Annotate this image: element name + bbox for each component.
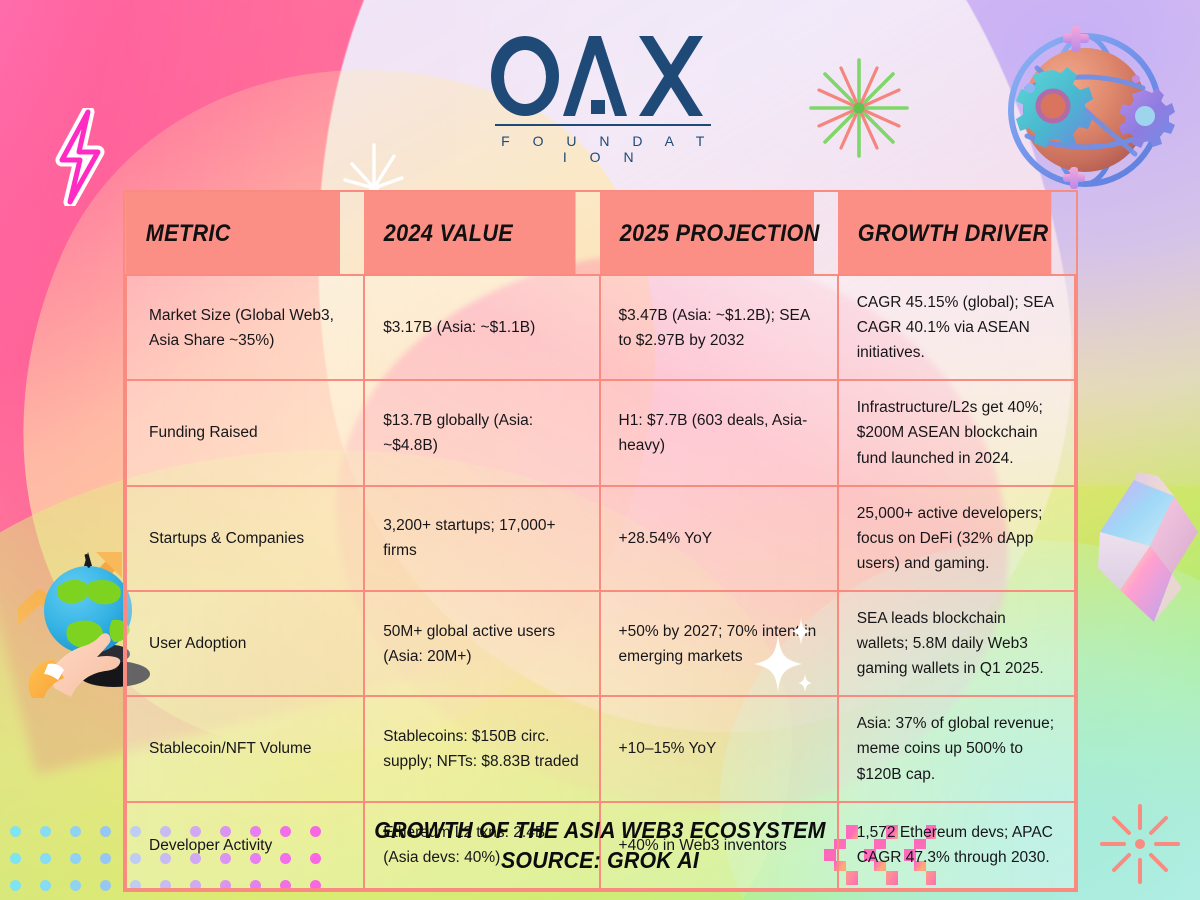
cell-2024-value: 3,200+ startups; 17,000+ firms	[364, 486, 599, 591]
cell-text: Stablecoin/NFT Volume	[149, 740, 312, 757]
table-row: Funding Raised $13.7B globally (Asia: ~$…	[126, 380, 1075, 485]
cell-text: Market Size (Global Web3, Asia Share ~35…	[149, 307, 334, 349]
column-header-metric: METRIC	[126, 192, 340, 275]
four-point-sparkle-icon	[748, 616, 816, 696]
table-row: Market Size (Global Web3, Asia Share ~35…	[126, 275, 1075, 380]
cell-2025-projection: +28.54% YoY	[600, 486, 838, 591]
footer: GROWTH OF THE ASIA WEB3 ECOSYSTEM SOURCE…	[0, 816, 1200, 876]
cell-growth-driver: Asia: 37% of global revenue; meme coins …	[838, 696, 1075, 801]
oax-logo-mark	[489, 34, 717, 118]
column-header-2024-value: 2024 VALUE	[364, 192, 576, 275]
cell-2024-value: 50M+ global active users (Asia: 20M+)	[364, 591, 599, 696]
globe-gear-graphic	[985, 18, 1185, 200]
column-header-2025-projection: 2025 PROJECTION	[600, 192, 814, 275]
cell-text: User Adoption	[149, 635, 246, 652]
cell-text: Infrastructure/L2s get 40%; $200M ASEAN …	[857, 399, 1043, 466]
cell-text: Funding Raised	[149, 424, 258, 441]
cell-metric: Market Size (Global Web3, Asia Share ~35…	[126, 275, 364, 380]
cell-text: 50M+ global active users (Asia: 20M+)	[383, 623, 555, 665]
metrics-table: METRIC 2024 VALUE 2025 PROJECTION GROWTH…	[123, 190, 1078, 892]
cell-text: 3,200+ startups; 17,000+ firms	[383, 517, 555, 559]
cell-text: H1: $7.7B (603 deals, Asia-heavy)	[619, 412, 808, 454]
firework-burst-icon	[800, 52, 918, 164]
table-header-row: METRIC 2024 VALUE 2025 PROJECTION GROWTH…	[126, 192, 1075, 275]
cell-text: 25,000+ active developers; focus on DeFi…	[857, 505, 1043, 572]
cell-metric: Startups & Companies	[126, 486, 364, 591]
cell-growth-driver: SEA leads blockchain wallets; 5.8M daily…	[838, 591, 1075, 696]
logo-subtext: F O U N D A T I O N	[489, 133, 717, 165]
table-row: User Adoption 50M+ global active users (…	[126, 591, 1075, 696]
cell-text: Asia: 37% of global revenue; meme coins …	[857, 715, 1054, 782]
table-row: Stablecoin/NFT Volume Stablecoins: $150B…	[126, 696, 1075, 801]
cell-2025-projection: $3.47B (Asia: ~$1.2B); SEA to $2.97B by …	[600, 275, 838, 380]
oax-foundation-logo: F O U N D A T I O N	[489, 34, 717, 154]
cell-2025-projection: H1: $7.7B (603 deals, Asia-heavy)	[600, 380, 838, 485]
cell-growth-driver: Infrastructure/L2s get 40%; $200M ASEAN …	[838, 380, 1075, 485]
cell-text: SEA leads blockchain wallets; 5.8M daily…	[857, 610, 1044, 677]
column-header-growth-driver: GROWTH DRIVER	[838, 192, 1052, 275]
footer-title: GROWTH OF THE ASIA WEB3 ECOSYSTEM	[42, 816, 1158, 846]
cell-2025-projection: +10–15% YoY	[600, 696, 838, 801]
lightning-bolt-icon	[36, 108, 122, 206]
cell-text: +10–15% YoY	[619, 740, 717, 757]
cell-text: +28.54% YoY	[619, 530, 713, 547]
cell-2024-value: Stablecoins: $150B circ. supply; NFTs: $…	[364, 696, 599, 801]
logo-divider	[495, 124, 711, 126]
cell-2024-value: $13.7B globally (Asia: ~$4.8B)	[364, 380, 599, 485]
crystal-gem-graphic	[1098, 470, 1200, 640]
cell-metric: User Adoption	[126, 591, 364, 696]
cell-metric: Stablecoin/NFT Volume	[126, 696, 364, 801]
cell-growth-driver: 25,000+ active developers; focus on DeFi…	[838, 486, 1075, 591]
cell-text: $3.47B (Asia: ~$1.2B); SEA to $2.97B by …	[619, 307, 810, 349]
cell-text: $13.7B globally (Asia: ~$4.8B)	[383, 412, 533, 454]
table-row: Startups & Companies 3,200+ startups; 17…	[126, 486, 1075, 591]
cell-text: $3.17B (Asia: ~$1.1B)	[383, 319, 535, 336]
cell-growth-driver: CAGR 45.15% (global); SEA CAGR 40.1% via…	[838, 275, 1075, 380]
footer-source: SOURCE: GROK AI	[42, 846, 1158, 876]
cell-2024-value: $3.17B (Asia: ~$1.1B)	[364, 275, 599, 380]
cell-text: Startups & Companies	[149, 530, 304, 547]
cell-metric: Funding Raised	[126, 380, 364, 485]
cell-text: CAGR 45.15% (global); SEA CAGR 40.1% via…	[857, 294, 1053, 361]
cell-text: Stablecoins: $150B circ. supply; NFTs: $…	[383, 728, 579, 770]
